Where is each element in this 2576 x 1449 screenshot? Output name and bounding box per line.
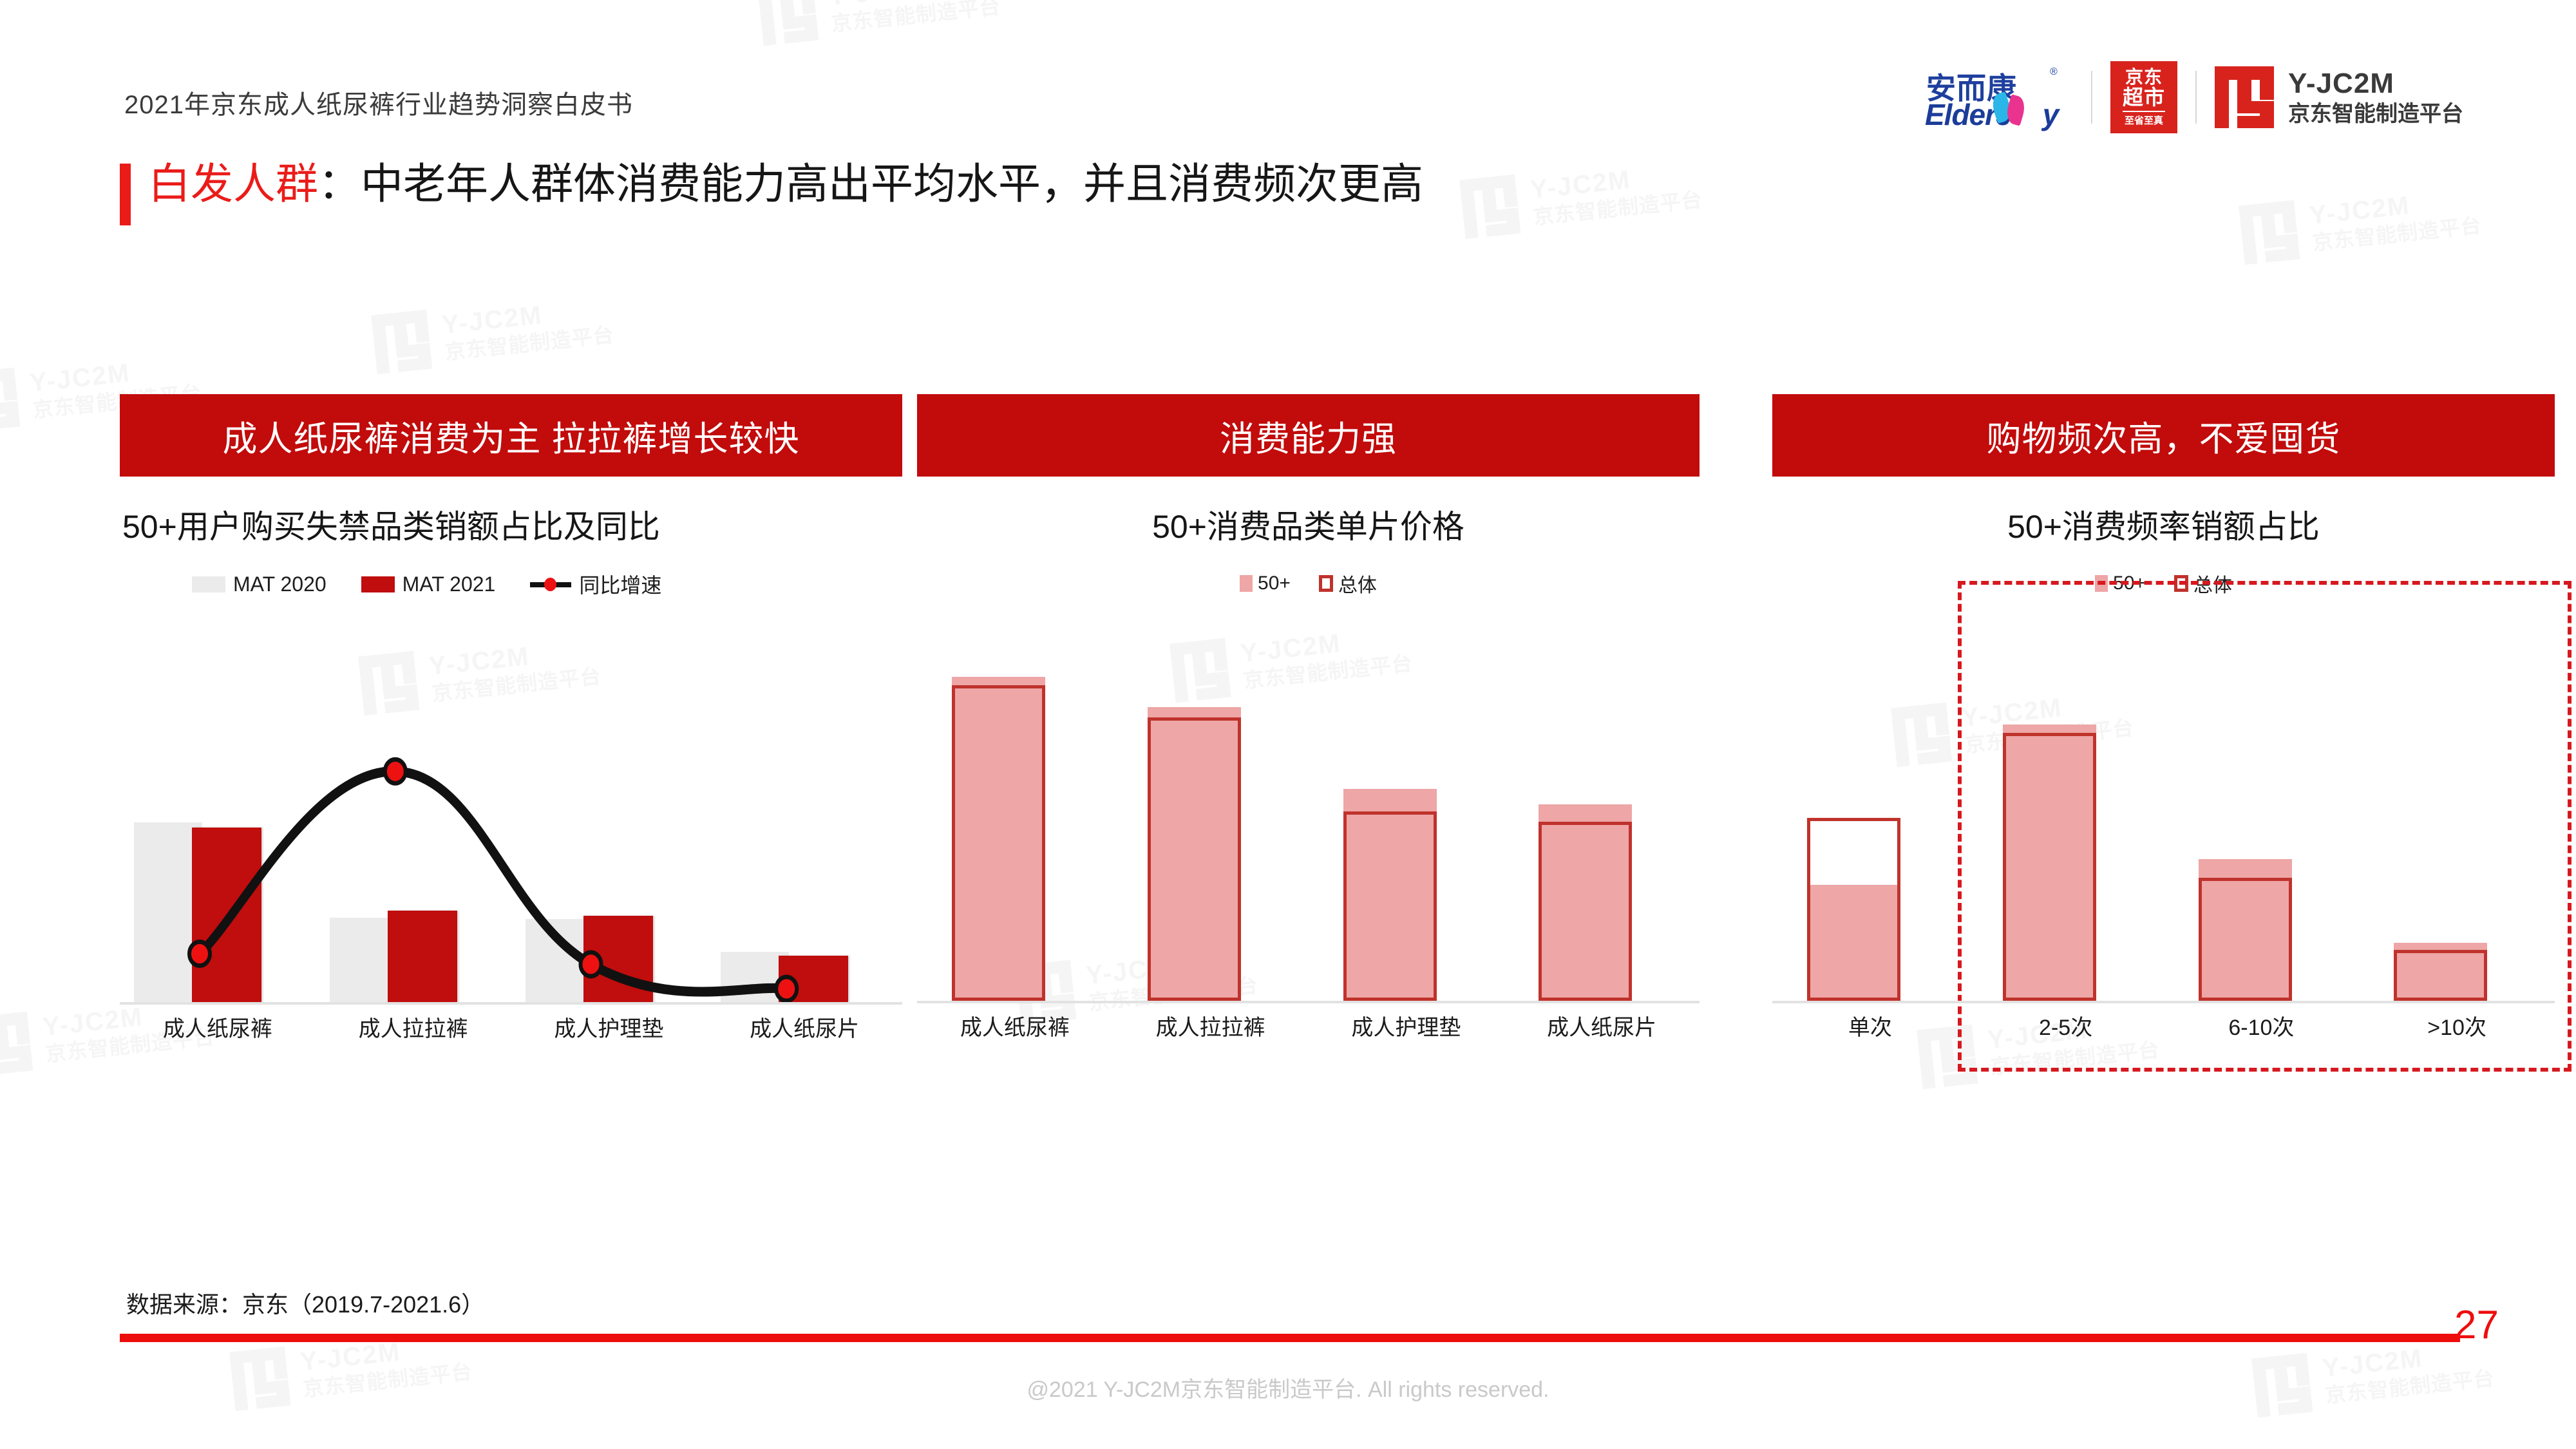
legend-item-mat2021: MAT 2021	[361, 573, 496, 596]
category-label: 成人纸尿片	[706, 1011, 902, 1061]
watermark-en: Y-JC2M	[827, 0, 999, 12]
headline-rest-text: ：中老年人群体消费能力高出平均水平，并且消费频次更高	[318, 160, 1423, 207]
bar-overall-outline	[2199, 878, 2292, 1001]
chart-2: 成人纸尿裤成人拉拉裤成人护理垫成人纸尿片	[917, 614, 1700, 1065]
bar-group	[2359, 614, 2555, 1001]
yjc2m-cn-label: 京东智能制造平台	[2288, 102, 2463, 126]
chart-2-category-labels: 成人纸尿裤成人拉拉裤成人护理垫成人纸尿片	[917, 1010, 1700, 1060]
bar-overall-outline	[1343, 811, 1437, 1001]
columns-container: 成人纸尿裤消费为主 拉拉裤增长较快 50+用户购买失禁品类销额占比及同比 MAT…	[0, 394, 2576, 1264]
category-label: 成人纸尿裤	[917, 1010, 1113, 1060]
column-3-banner: 购物频次高，不爱囤货	[1772, 394, 2555, 477]
watermark: Y-JC2M 京东智能制造平台	[757, 0, 1002, 46]
watermark-en: Y-JC2M	[440, 292, 613, 341]
watermark-cn: 京东智能制造平台	[2311, 213, 2483, 255]
line-marker-icon	[530, 576, 571, 592]
yjc2m-mark-icon	[2215, 66, 2274, 128]
red-square-icon	[361, 576, 395, 592]
column-1: 成人纸尿裤消费为主 拉拉裤增长较快 50+用户购买失禁品类销额占比及同比 MAT…	[120, 394, 902, 1066]
legend-label: MAT 2020	[233, 573, 327, 596]
logo-group: 安而康 ® ElderJy 京东 超市 至省至真 Y-	[1924, 61, 2463, 133]
category-label: 2-5次	[1968, 1010, 2164, 1060]
legend-item-50plus: 50+	[1240, 573, 1291, 594]
growth-line-marker	[189, 942, 210, 965]
footer-rule	[120, 1334, 2460, 1342]
chart-3-category-labels: 单次2-5次6-10次>10次	[1772, 1010, 2555, 1060]
bar-overall-outline	[1148, 717, 1241, 1001]
chart-1-growth-line	[120, 616, 902, 1066]
watermark-en: Y-JC2M	[28, 350, 201, 399]
chart-2-bars	[917, 614, 1700, 1001]
legend-item-growth: 同比增速	[530, 569, 661, 599]
category-label: 成人拉拉裤	[1113, 1010, 1309, 1060]
category-label: 单次	[1772, 1010, 1968, 1060]
watermark-en: Y-JC2M	[1529, 157, 1701, 205]
column-2-subtitle: 50+消费品类单片价格	[917, 501, 1700, 547]
watermark-en: Y-JC2M	[2308, 183, 2481, 231]
pink-square-icon	[1240, 575, 1253, 592]
headline: 白发人群：中老年人群体消费能力高出平均水平，并且消费频次更高	[120, 162, 1423, 225]
category-label: 成人拉拉裤	[316, 1011, 511, 1061]
legend-label: MAT 2021	[402, 573, 496, 596]
bar-overall-outline	[1539, 822, 1632, 1001]
column-3-banner-label: 购物频次高，不爱囤货	[1987, 410, 2341, 461]
growth-line-marker	[581, 952, 601, 976]
elderjoy-en-label: ElderJy	[1925, 97, 2058, 132]
watermark-text: Y-JC2M 京东智能制造平台	[440, 292, 615, 365]
page-number: 27	[2454, 1302, 2499, 1348]
column-1-banner: 成人纸尿裤消费为主 拉拉裤增长较快	[120, 394, 902, 477]
watermark-cn: 京东智能制造平台	[830, 0, 1002, 36]
document-title: 2021年京东成人纸尿裤行业趋势洞察白皮书	[124, 84, 633, 121]
category-label: 成人纸尿片	[1504, 1010, 1700, 1060]
column-3-subtitle: 50+消费频率销额占比	[1772, 501, 2555, 547]
chart-1-category-labels: 成人纸尿裤成人拉拉裤成人护理垫成人纸尿片	[120, 1011, 902, 1061]
chart-1: 成人纸尿裤成人拉拉裤成人护理垫成人纸尿片	[120, 616, 902, 1066]
legend-label: 50+	[1258, 573, 1291, 594]
jd-super-line2: 超市	[2123, 87, 2165, 109]
headline-accent-bar	[120, 164, 131, 225]
watermark-text: Y-JC2M 京东智能制造平台	[827, 0, 1001, 36]
yjc2m-logo: Y-JC2M 京东智能制造平台	[2215, 66, 2463, 128]
yjc2m-watermark-icon	[757, 0, 819, 46]
column-2-banner-label: 消费能力强	[1220, 410, 1397, 461]
registered-trademark-icon: ®	[2050, 66, 2058, 78]
watermark: Y-JC2M 京东智能制造平台	[1459, 155, 1704, 239]
bar-overall-outline	[2394, 950, 2487, 1001]
bar-overall-outline	[2003, 733, 2096, 1001]
growth-line-marker	[776, 977, 797, 1001]
chart-3: 单次2-5次6-10次>10次	[1772, 614, 2555, 1065]
watermark: Y-JC2M 京东智能制造平台	[2239, 181, 2483, 265]
chart-1-axis	[120, 1002, 902, 1005]
yjc2m-watermark-icon	[2239, 200, 2300, 265]
chart-3-bars	[1772, 614, 2555, 1001]
growth-line-marker	[385, 759, 406, 783]
bar-group	[1113, 614, 1309, 1001]
category-label: >10次	[2359, 1010, 2555, 1060]
bar-group	[2164, 614, 2360, 1001]
jd-supermarket-logo: 京东 超市 至省至真	[2110, 61, 2177, 133]
legend-item-mat2020: MAT 2020	[192, 573, 327, 596]
logo-divider	[2195, 71, 2197, 124]
bar-group	[917, 614, 1113, 1001]
bar-group	[1772, 614, 1968, 1001]
watermark-cn: 京东智能制造平台	[1532, 187, 1704, 229]
bar-group	[1309, 614, 1504, 1001]
hollow-square-icon	[1319, 575, 1333, 592]
bar-overall-outline	[952, 685, 1045, 1001]
growth-line-path	[200, 772, 786, 992]
bar-group	[1968, 614, 2164, 1001]
yjc2m-text: Y-JC2M 京东智能制造平台	[2288, 67, 2463, 128]
jd-super-line1: 京东	[2125, 68, 2163, 87]
watermark-cn: 京东智能制造平台	[444, 323, 616, 365]
grey-square-icon	[192, 576, 225, 592]
column-2-banner: 消费能力强	[917, 394, 1700, 477]
column-2-legend: 50+ 总体	[917, 569, 1700, 598]
watermark: Y-JC2M 京东智能制造平台	[371, 290, 616, 374]
yjc2m-en-label: Y-JC2M	[2288, 68, 2394, 99]
legend-label: 总体	[1338, 569, 1377, 598]
yjc2m-watermark-icon	[371, 310, 432, 374]
watermark-text: Y-JC2M 京东智能制造平台	[1529, 157, 1703, 229]
category-label: 成人纸尿裤	[120, 1011, 316, 1061]
category-label: 成人护理垫	[1309, 1010, 1504, 1060]
column-1-subtitle: 50+用户购买失禁品类销额占比及同比	[120, 501, 902, 547]
legend-label: 同比增速	[579, 569, 661, 599]
column-2: 消费能力强 50+消费品类单片价格 50+ 总体 成人纸尿裤成人拉拉裤成人护理垫…	[917, 394, 1700, 1065]
data-source-note: 数据来源：京东（2019.7-2021.6）	[126, 1286, 484, 1320]
elderjoy-logo: 安而康 ® ElderJy	[1924, 64, 2073, 131]
legend-item-overall: 总体	[1319, 569, 1377, 598]
chart-2-axis	[917, 1001, 1700, 1003]
logo-divider	[2091, 71, 2092, 124]
column-1-legend: MAT 2020 MAT 2021 同比增速	[120, 569, 902, 599]
bar-group	[1504, 614, 1700, 1001]
copyright-text: @2021 Y-JC2M京东智能制造平台. All rights reserve…	[0, 1372, 2576, 1403]
jd-super-rule	[2123, 111, 2165, 112]
category-label: 成人护理垫	[511, 1011, 707, 1061]
column-1-banner-label: 成人纸尿裤消费为主 拉拉裤增长较快	[222, 410, 799, 461]
slide: Y-JC2M 京东智能制造平台 Y-JC2M 京东智能制造平台	[0, 0, 2576, 1449]
bar-overall-outline	[1807, 818, 1900, 1001]
category-label: 6-10次	[2164, 1010, 2360, 1060]
yjc2m-watermark-icon	[1459, 175, 1520, 239]
watermark-text: Y-JC2M 京东智能制造平台	[2308, 183, 2483, 255]
headline-accent-text: 白发人群	[148, 160, 318, 207]
column-3: 购物频次高，不爱囤货 50+消费频率销额占比 50+ 总体 单次2-5次6-10…	[1772, 394, 2555, 1065]
jd-super-line3: 至省至真	[2125, 113, 2163, 127]
headline-text: 白发人群：中老年人群体消费能力高出平均水平，并且消费频次更高	[148, 162, 1423, 205]
chart-3-axis	[1772, 1001, 2555, 1003]
